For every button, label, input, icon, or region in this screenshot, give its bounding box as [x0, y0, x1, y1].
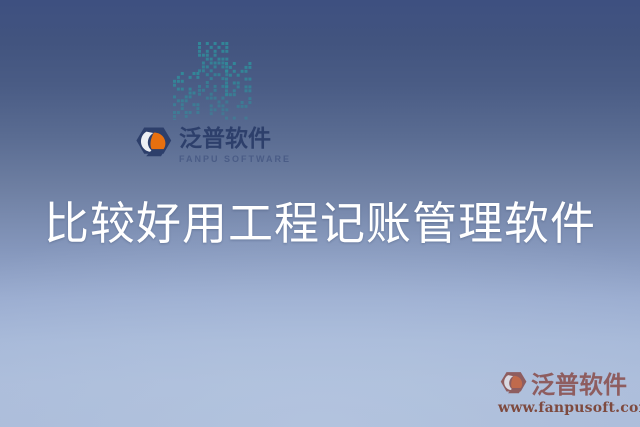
watermark-url: www.fanpusoft.com [498, 400, 632, 417]
banner-canvas: 泛普软件 FANPU SOFTWARE 比较好用工程记账管理软件 泛普软件 ww… [0, 0, 640, 427]
brand-name-en: FANPU SOFTWARE [179, 153, 291, 165]
watermark-hexagon-icon [498, 371, 528, 399]
fanpu-hexagon-icon [133, 126, 173, 164]
watermark-name-cn: 泛普软件 [531, 371, 627, 399]
pixel-skyline-graphic [155, 38, 255, 120]
page-title: 比较好用工程记账管理软件 [0, 196, 640, 252]
brand-logo: 泛普软件 FANPU SOFTWARE [133, 126, 281, 170]
watermark-logo-row: 泛普软件 [498, 370, 632, 400]
brand-wordmark: 泛普软件 FANPU SOFTWARE [179, 126, 291, 165]
brand-name-cn: 泛普软件 [179, 126, 291, 152]
watermark: 泛普软件 www.fanpusoft.com [498, 370, 632, 418]
